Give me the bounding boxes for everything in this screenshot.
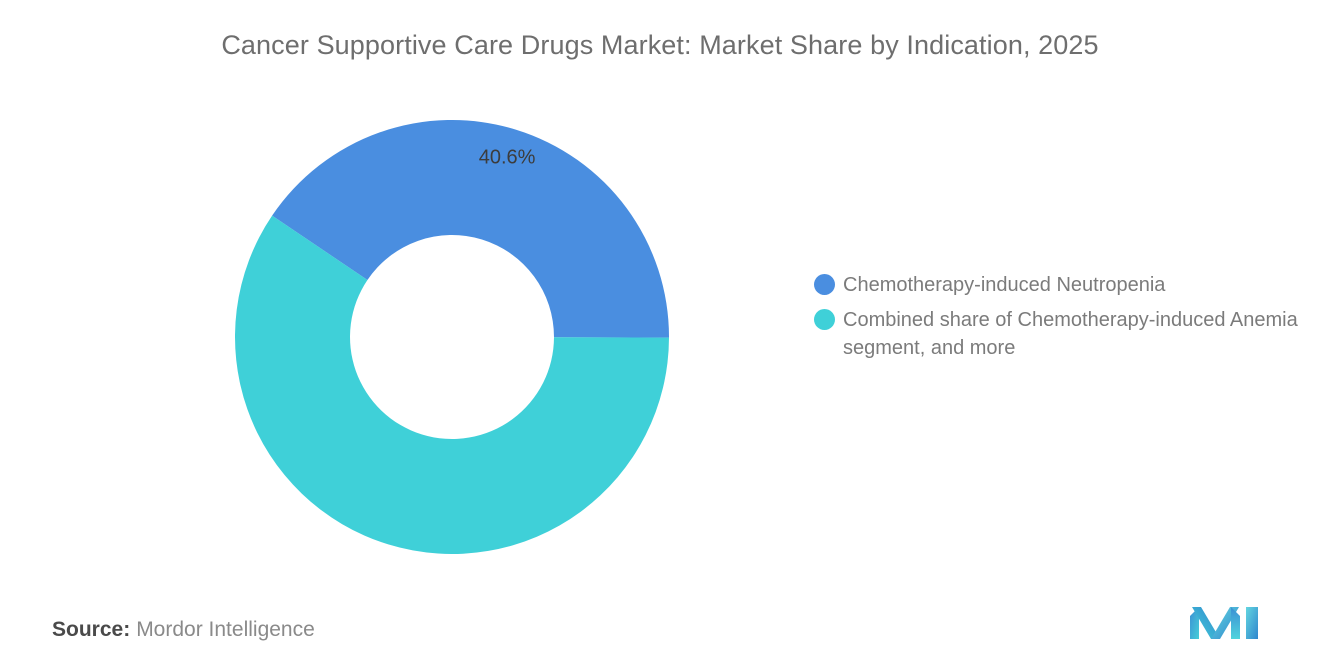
legend-item-label: Combined share of Chemotherapy-induced A… <box>843 306 1304 362</box>
legend-dot-icon <box>814 309 835 330</box>
donut-chart: 40.6% <box>235 120 669 554</box>
page-title: Cancer Supportive Care Drugs Market: Mar… <box>0 30 1320 61</box>
source-line: Source:Mordor Intelligence <box>52 617 315 643</box>
legend-dot-icon <box>814 274 835 295</box>
chart-legend: Chemotherapy-induced Neutropenia Combine… <box>814 271 1304 369</box>
source-label: Source: <box>52 618 130 641</box>
mordor-intelligence-logo <box>1190 603 1258 643</box>
donut-chart-svg <box>235 120 669 554</box>
legend-item-label: Chemotherapy-induced Neutropenia <box>843 271 1165 299</box>
legend-item-0[interactable]: Chemotherapy-induced Neutropenia <box>814 271 1304 299</box>
source-value: Mordor Intelligence <box>136 618 315 641</box>
legend-item-1[interactable]: Combined share of Chemotherapy-induced A… <box>814 306 1304 362</box>
mi-logo-icon <box>1190 603 1258 643</box>
